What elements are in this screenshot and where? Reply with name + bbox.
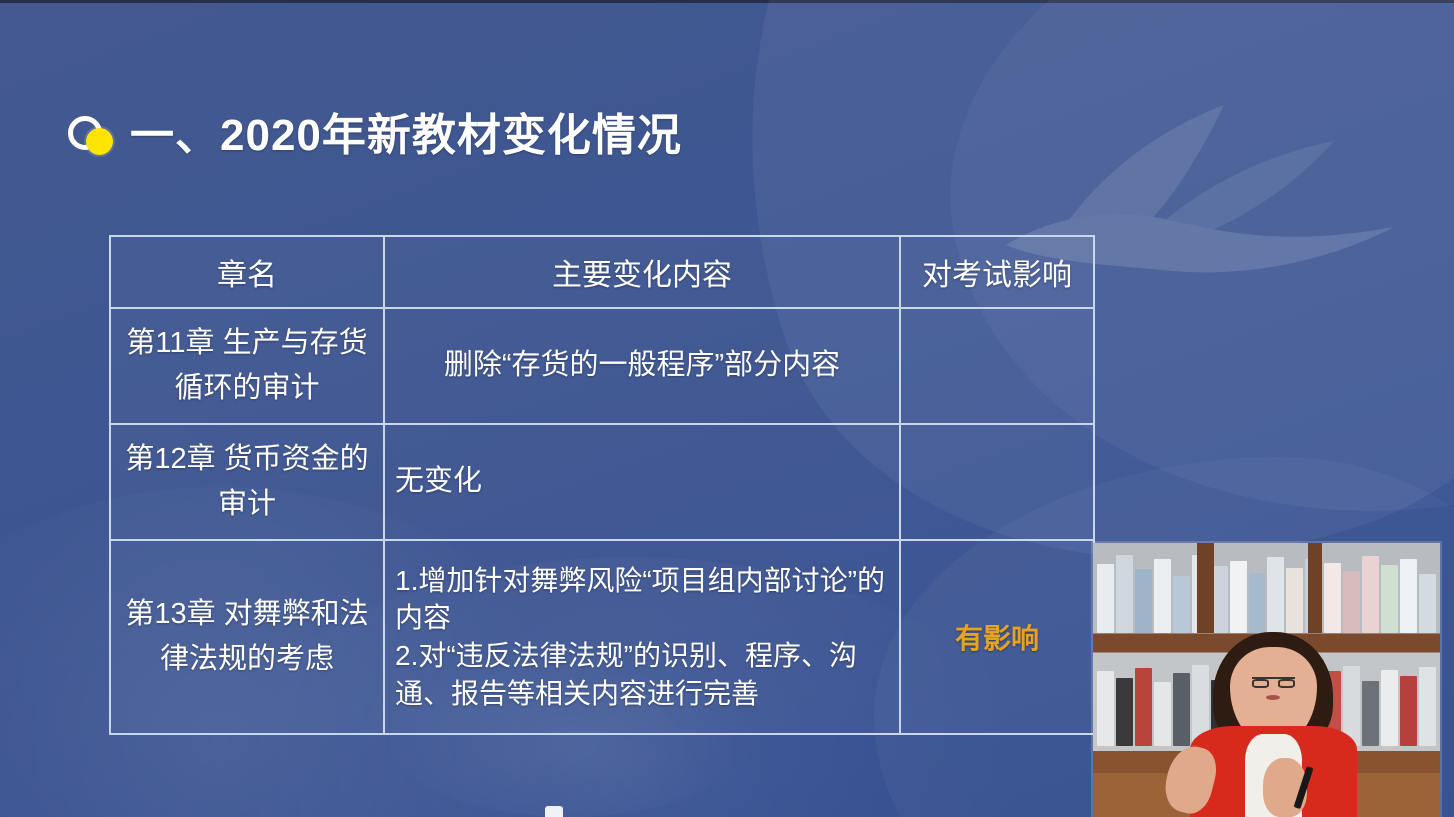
cell-content-1: 删除“存货的一般程序”部分内容 <box>384 308 900 424</box>
table-head: 章名 主要变化内容 对考试影响 <box>110 236 1094 308</box>
cell-content-2: 无变化 <box>384 424 900 540</box>
page-title: 一、2020年新教材变化情况 <box>130 114 682 158</box>
cell-impact-3: 有影响 <box>900 540 1094 734</box>
instructor-figure <box>1190 620 1357 817</box>
table-row: 第12章 货币资金的审计 无变化 <box>110 424 1094 540</box>
cell-chapter-1: 第11章 生产与存货循环的审计 <box>110 308 384 424</box>
cell-chapter-3: 第13章 对舞弊和法律法规的考虑 <box>110 540 384 734</box>
mouth-shape <box>1266 695 1280 700</box>
content-line-1: 1.增加针对舞弊风险“项目组内部讨论”的内容 <box>395 562 889 637</box>
content-line-2: 2.对“违反法律法规”的识别、程序、沟通、报告等相关内容进行完善 <box>395 637 889 712</box>
cell-content-3: 1.增加针对舞弊风险“项目组内部讨论”的内容 2.对“违反法律法规”的识别、程序… <box>384 540 900 734</box>
cell-chapter-2: 第12章 货币资金的审计 <box>110 424 384 540</box>
cell-impact-1 <box>900 308 1094 424</box>
table-header-row: 章名 主要变化内容 对考试影响 <box>110 236 1094 308</box>
circle-dot-icon <box>66 112 124 160</box>
column-header-impact: 对考试影响 <box>900 236 1094 308</box>
cell-impact-2 <box>900 424 1094 540</box>
yellow-dot-shape <box>86 128 113 155</box>
table-row: 第11章 生产与存货循环的审计 删除“存货的一般程序”部分内容 <box>110 308 1094 424</box>
table-row: 第13章 对舞弊和法律法规的考虑 1.增加针对舞弊风险“项目组内部讨论”的内容 … <box>110 540 1094 734</box>
slide-stage: 一、2020年新教材变化情况 章名 主要变化内容 对考试影响 第11章 生产与存… <box>0 0 1454 817</box>
status-badge: 有影响 <box>955 623 1039 654</box>
instructor-video-overlay[interactable] <box>1093 543 1440 817</box>
column-header-chapter: 章名 <box>110 236 384 308</box>
column-header-content: 主要变化内容 <box>384 236 900 308</box>
table-body: 第11章 生产与存货循环的审计 删除“存货的一般程序”部分内容 第12章 货币资… <box>110 308 1094 734</box>
slide-title-row: 一、2020年新教材变化情况 <box>66 104 682 168</box>
bottom-marker <box>545 806 563 817</box>
top-edge-line <box>0 0 1454 3</box>
glasses-icon <box>1252 677 1295 688</box>
textbook-changes-table: 章名 主要变化内容 对考试影响 第11章 生产与存货循环的审计 删除“存货的一般… <box>109 235 1095 735</box>
